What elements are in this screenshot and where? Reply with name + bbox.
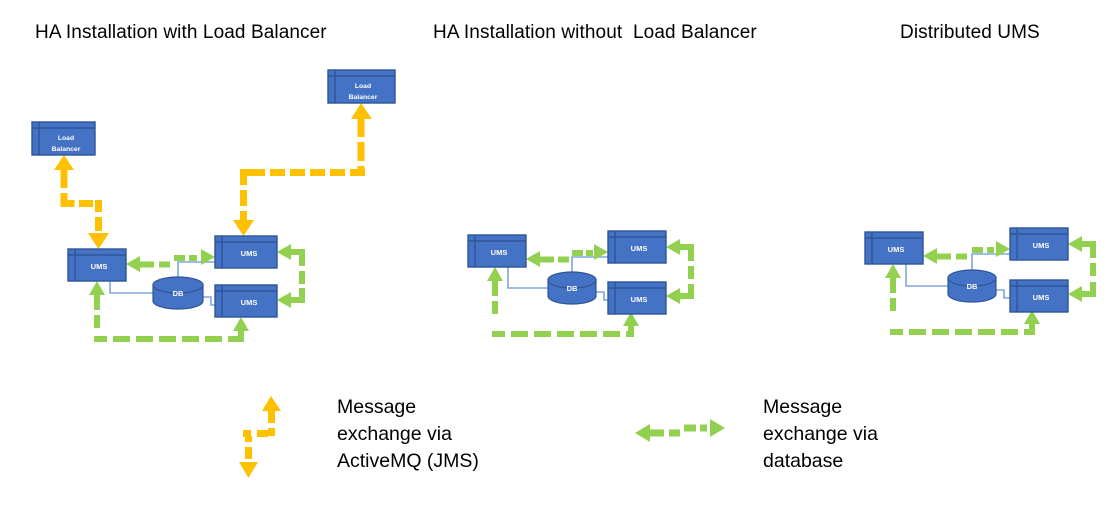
load-balancer-label-line1: Load [355, 83, 371, 90]
db-arrow-left-to-righttop [923, 241, 1010, 264]
node-ums-right-bot-d3[interactable]: UMS [1010, 280, 1068, 312]
db-arrow-left-to-righttop [126, 249, 215, 272]
db-arrow-righttop-to-rightbot [666, 239, 694, 304]
node-ums-right-top-d2[interactable]: UMS [608, 231, 666, 263]
thin-connector-db-umsrightbot [996, 290, 1010, 298]
ums-label: UMS [241, 249, 258, 258]
node-ums-right-top-d1[interactable]: UMS [215, 236, 277, 268]
ums-label: UMS [91, 262, 108, 271]
node-load-balancer-left[interactable]: Load Balancer [32, 122, 95, 155]
diagram-3: DB UMS UMS UMS [865, 228, 1096, 335]
diagram-1-db-node: DB [153, 277, 203, 309]
jms-arrow-umsrighttop-to-lbright [233, 103, 372, 236]
node-ums-left-d1[interactable]: UMS [68, 249, 126, 281]
thin-connector-db-umsrightbot [596, 292, 608, 300]
load-balancer-label-line1: Load [58, 135, 74, 142]
ums-label: UMS [631, 244, 648, 253]
thin-connector-umsleft-db [508, 267, 548, 288]
diagram-2: DB UMS UMS UMS [468, 231, 694, 337]
thin-connector-db-umsrightbot [203, 297, 215, 305]
db-arrow-righttop-to-rightbot [1068, 236, 1096, 302]
jms-arrow-umsleft-to-lbleft [54, 155, 109, 249]
node-ums-right-top-d3[interactable]: UMS [1010, 228, 1068, 260]
db-arrow-righttop-to-rightbot [277, 244, 305, 308]
node-ums-right-bot-d1[interactable]: UMS [215, 285, 277, 317]
node-ums-left-d3[interactable]: UMS [865, 232, 923, 264]
diagram-3-db-node: DB [948, 270, 996, 302]
ums-label: UMS [888, 245, 905, 254]
ums-label: UMS [241, 298, 258, 307]
legend-db-icon [635, 419, 725, 442]
ums-label: UMS [491, 248, 508, 257]
ums-label: UMS [1033, 293, 1050, 302]
ums-label: UMS [1033, 241, 1050, 250]
thin-connector-umsleft-db [110, 281, 153, 293]
db-label: DB [967, 282, 978, 291]
legend-jms-icon [239, 396, 281, 478]
node-ums-left-d2[interactable]: UMS [468, 235, 526, 267]
diagram-1: DB UMS UMS UMS Load Balancer [32, 70, 395, 342]
diagram-2-db-node: DB [548, 272, 596, 304]
ums-label: UMS [631, 295, 648, 304]
diagram-canvas: DB UMS UMS UMS Load Balancer [0, 0, 1114, 510]
db-label: DB [567, 284, 578, 293]
db-arrow-left-to-righttop [526, 244, 608, 267]
node-ums-right-bot-d2[interactable]: UMS [608, 282, 666, 314]
thin-connector-umsleft-db [906, 264, 948, 286]
diagram-1-jms-connectors [54, 103, 372, 249]
load-balancer-label-line2: Balancer [52, 146, 81, 153]
db-label: DB [173, 289, 184, 298]
node-load-balancer-right[interactable]: Load Balancer [328, 70, 395, 103]
load-balancer-label-line2: Balancer [349, 94, 378, 101]
